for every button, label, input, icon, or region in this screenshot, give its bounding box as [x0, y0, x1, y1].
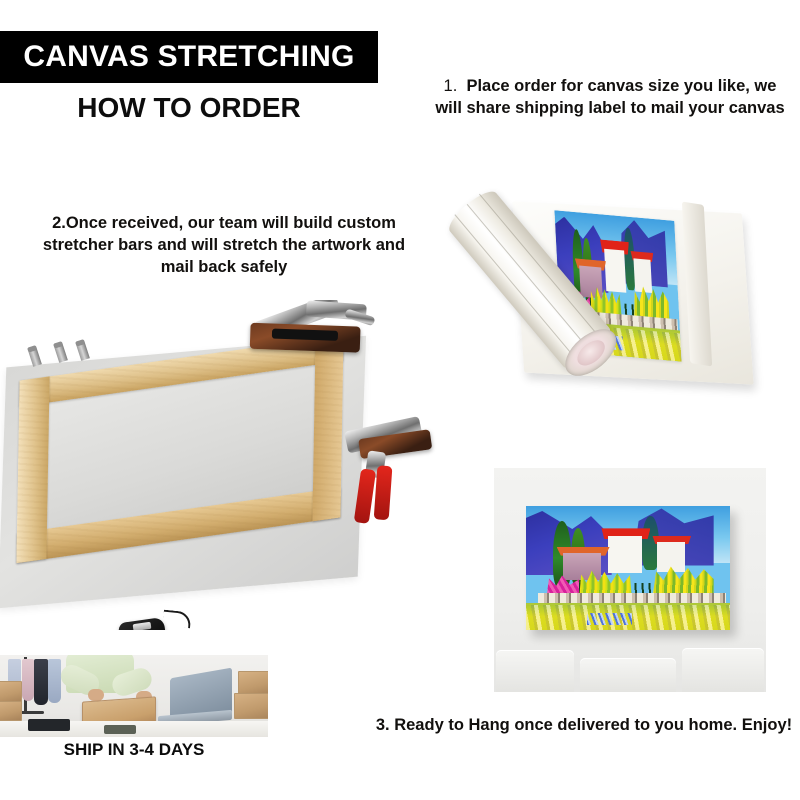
package-box-icon [238, 671, 268, 695]
hanging-garment-4 [48, 659, 61, 703]
page-title-bar: CANVAS STRETCHING [0, 31, 378, 83]
room-wall-canvas-photo [494, 468, 766, 692]
rolled-canvas-scene [440, 180, 800, 435]
sofa-cushion-center [580, 658, 676, 692]
step-1-number: 1. [444, 77, 458, 95]
mobile-phone [104, 725, 136, 734]
sofa-cushion-left [496, 650, 574, 692]
page-subtitle-container: HOW TO ORDER [0, 88, 378, 128]
step-3-text: 3. Ready to Hang once delivered to you h… [372, 715, 796, 737]
tape-measure-clip [133, 622, 152, 630]
painting-white-house-a [608, 536, 643, 573]
staple-gun-icon [248, 300, 382, 372]
tape-measure-blade [162, 610, 192, 629]
staples-icon [27, 345, 42, 367]
sofa-cushion-right [682, 648, 764, 692]
stretcher-frame-photo [0, 300, 440, 630]
staple-gun-icon [338, 418, 440, 541]
rolled-canvas-photo [440, 180, 800, 435]
package-box-icon [0, 681, 22, 703]
packing-box-photo [0, 655, 268, 737]
hanging-garment-3 [34, 659, 48, 705]
step-1-text: 1. Place order for canvas size you like,… [430, 76, 790, 120]
painting-blue-flowers [587, 613, 632, 625]
step-3-body: 3. Ready to Hang once delivered to you h… [376, 716, 792, 734]
step-2-text: 2.Once received, our team will build cus… [28, 213, 420, 279]
ship-label: SHIP IN 3-4 DAYS [0, 740, 268, 760]
staple-gun-red-handle-1 [354, 468, 376, 524]
package-box-icon [0, 701, 22, 721]
hanging-canvas [526, 506, 730, 630]
step-1-body: Place order for canvas size you like, we… [435, 77, 784, 117]
staples-icon [53, 341, 68, 363]
page-subtitle: HOW TO ORDER [77, 92, 300, 124]
infographic-page: CANVAS STRETCHING HOW TO ORDER 1. Place … [0, 0, 800, 800]
tube-crease-2 [467, 204, 594, 355]
calculator [28, 719, 70, 731]
page-title: CANVAS STRETCHING [23, 40, 354, 74]
staple-gun-red-handle-2 [374, 465, 393, 520]
sofa [494, 640, 766, 692]
package-box-icon [234, 693, 268, 719]
step-2-body: 2.Once received, our team will build cus… [43, 214, 405, 276]
stretcher-bar-left [16, 376, 49, 563]
staples-icon [75, 339, 90, 361]
hanging-garment-2 [22, 659, 34, 701]
landscape-painting [526, 506, 730, 630]
wood-grain-left [16, 376, 49, 563]
